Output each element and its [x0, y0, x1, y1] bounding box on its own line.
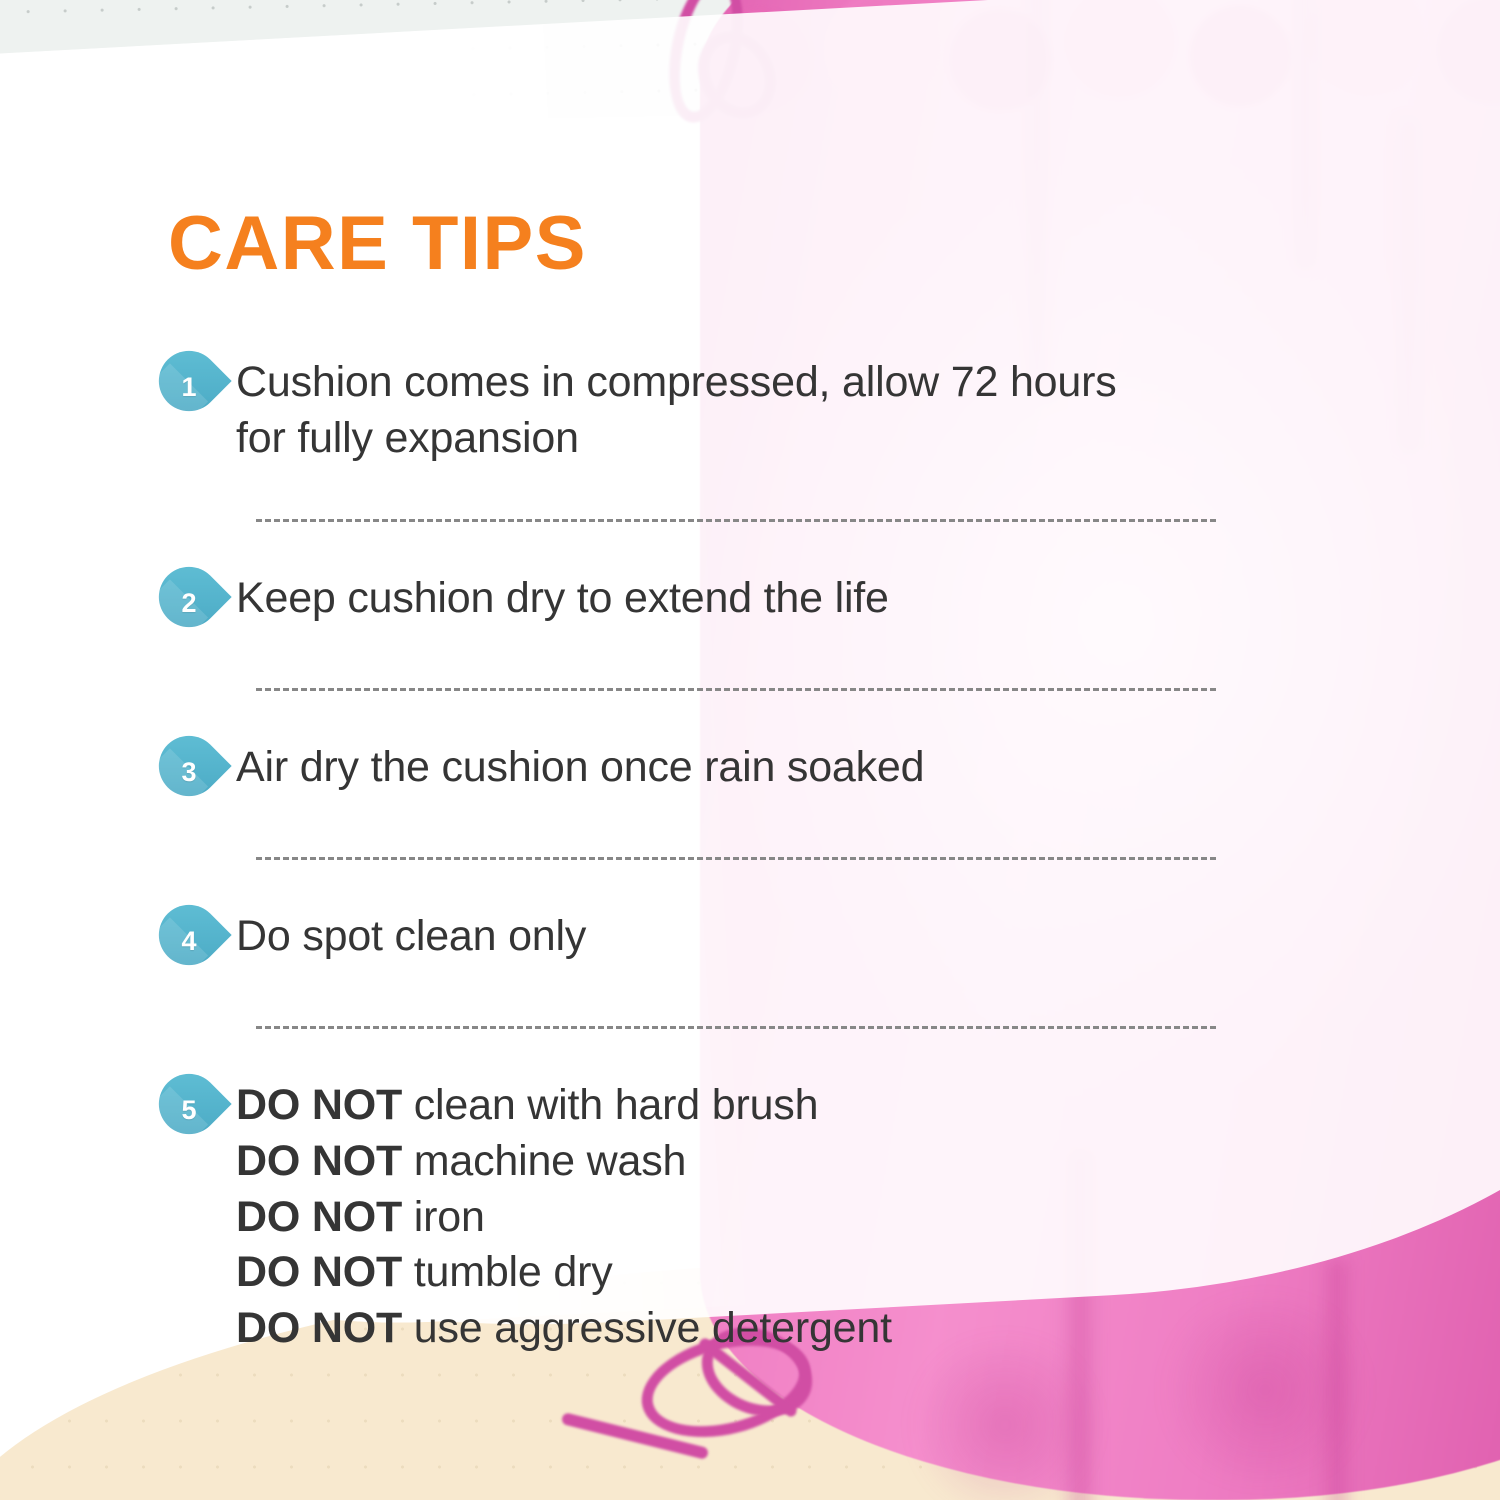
droplet-number-badge: 4 [160, 906, 220, 984]
donot-detail: machine wash [402, 1137, 686, 1185]
spacer [160, 467, 1220, 519]
donot-label: DO NOT [236, 1304, 402, 1352]
tip-line: Keep cushion dry to extend the life [236, 571, 1220, 627]
badge-number: 2 [160, 590, 218, 617]
spacer [160, 646, 1220, 688]
droplet-number-badge: 2 [160, 568, 220, 646]
care-tips-poster: CARE TIPS 1 Cushion comes in compressed,… [0, 0, 1500, 1500]
badge-number: 1 [160, 374, 218, 401]
badge-number: 4 [160, 928, 218, 955]
tip-line: for fully expansion [236, 411, 1220, 467]
tip-text: Cushion comes in compressed, allow 72 ho… [236, 352, 1220, 467]
spacer [160, 984, 1220, 1026]
donot-detail: iron [402, 1193, 485, 1241]
spacer [160, 1029, 1220, 1075]
donot-detail: clean with hard brush [402, 1081, 818, 1129]
tip-line: Cushion comes in compressed, allow 72 ho… [236, 355, 1220, 411]
badge-number: 3 [160, 759, 218, 786]
list-item: 3 Air dry the cushion once rain soaked [160, 737, 1220, 815]
list-item: 1 Cushion comes in compressed, allow 72 … [160, 352, 1220, 467]
list-item: 2 Keep cushion dry to extend the life [160, 568, 1220, 646]
spacer [160, 815, 1220, 857]
tip-line: DO NOT tumble dry [236, 1245, 1220, 1301]
tip-text: Do spot clean only [236, 906, 1220, 965]
list-item: 5 DO NOT clean with hard brush DO NOT ma… [160, 1075, 1220, 1357]
donot-label: DO NOT [236, 1137, 402, 1185]
spacer [160, 691, 1220, 737]
droplet-number-badge: 5 [160, 1075, 220, 1153]
spacer [160, 522, 1220, 568]
page-title: CARE TIPS [168, 206, 587, 282]
tip-text: Air dry the cushion once rain soaked [236, 737, 1220, 796]
donot-detail: use aggressive detergent [402, 1304, 892, 1352]
badge-number: 5 [160, 1097, 218, 1124]
donot-label: DO NOT [236, 1248, 402, 1296]
donot-detail: tumble dry [402, 1248, 613, 1296]
droplet-number-badge: 1 [160, 352, 220, 430]
tip-line: DO NOT machine wash [236, 1134, 1220, 1190]
droplet-number-badge: 3 [160, 737, 220, 815]
care-tips-list: 1 Cushion comes in compressed, allow 72 … [160, 352, 1220, 1357]
donot-label: DO NOT [236, 1193, 402, 1241]
spacer [160, 860, 1220, 906]
list-item: 4 Do spot clean only [160, 906, 1220, 984]
tip-line: DO NOT use aggressive detergent [236, 1301, 1220, 1357]
tip-line: DO NOT clean with hard brush [236, 1078, 1220, 1134]
tip-line: DO NOT iron [236, 1190, 1220, 1246]
tip-line: Do spot clean only [236, 909, 1220, 965]
poster-content: CARE TIPS 1 Cushion comes in compressed,… [0, 0, 1500, 1500]
donot-label: DO NOT [236, 1081, 402, 1129]
tip-text: DO NOT clean with hard brush DO NOT mach… [236, 1075, 1220, 1357]
tip-line: Air dry the cushion once rain soaked [236, 740, 1220, 796]
tip-text: Keep cushion dry to extend the life [236, 568, 1220, 627]
